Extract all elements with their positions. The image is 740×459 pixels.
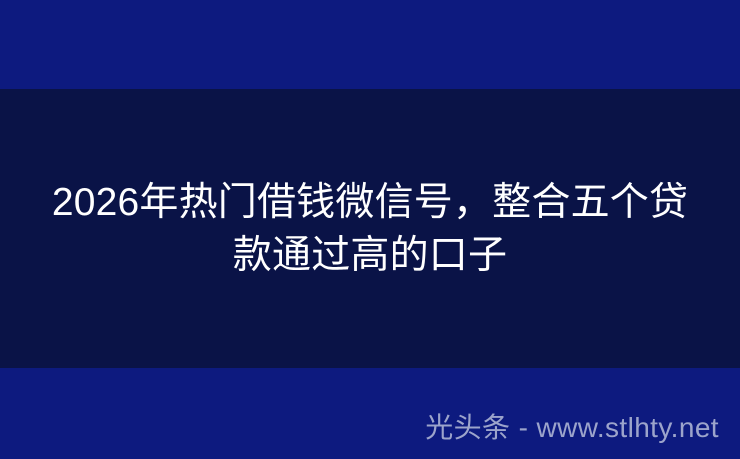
poster-image: 2026年热门借钱微信号，整合五个贷款通过高的口子 光头条 - www.stlh… bbox=[0, 0, 740, 459]
headline-container: 2026年热门借钱微信号，整合五个贷款通过高的口子 bbox=[0, 89, 740, 368]
bottom-accent-band bbox=[0, 368, 740, 459]
top-accent-band bbox=[0, 0, 740, 89]
page-title: 2026年热门借钱微信号，整合五个贷款通过高的口子 bbox=[34, 176, 706, 282]
